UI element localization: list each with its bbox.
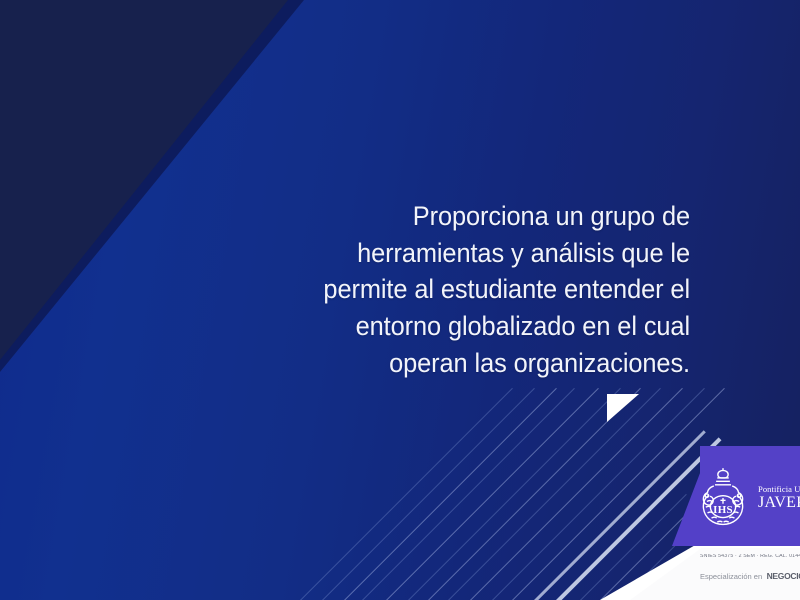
ihs-jesuit-crest-icon: IHS — [694, 467, 752, 529]
footer-text-block: SNIES 54375 · 2 SEM · REG. CAL. 01446 Es… — [700, 554, 800, 583]
program-name: NEGOCIOS INTERNACIONALES — [767, 571, 800, 581]
university-wordmark: Pontificia Universidad JAVERIANA — [758, 485, 800, 511]
wordmark-main-line: JAVERIANA — [758, 495, 800, 511]
svg-text:IHS: IHS — [713, 504, 733, 516]
program-line: Especialización en NEGOCIOS INTERNACIONA… — [700, 567, 800, 583]
slide-body-text: Proporciona un grupo de herramientas y a… — [276, 198, 690, 382]
slide-canvas: Proporciona un grupo de herramientas y a… — [0, 0, 800, 600]
wordmark-top-line: Pontificia Universidad — [758, 485, 800, 494]
snies-registration-line: SNIES 54375 · 2 SEM · REG. CAL. 01446 — [700, 554, 800, 559]
university-logo: IHS Pontificia Universidad JAVERIANA — [694, 462, 800, 534]
program-prefix: Especialización en — [700, 572, 762, 581]
